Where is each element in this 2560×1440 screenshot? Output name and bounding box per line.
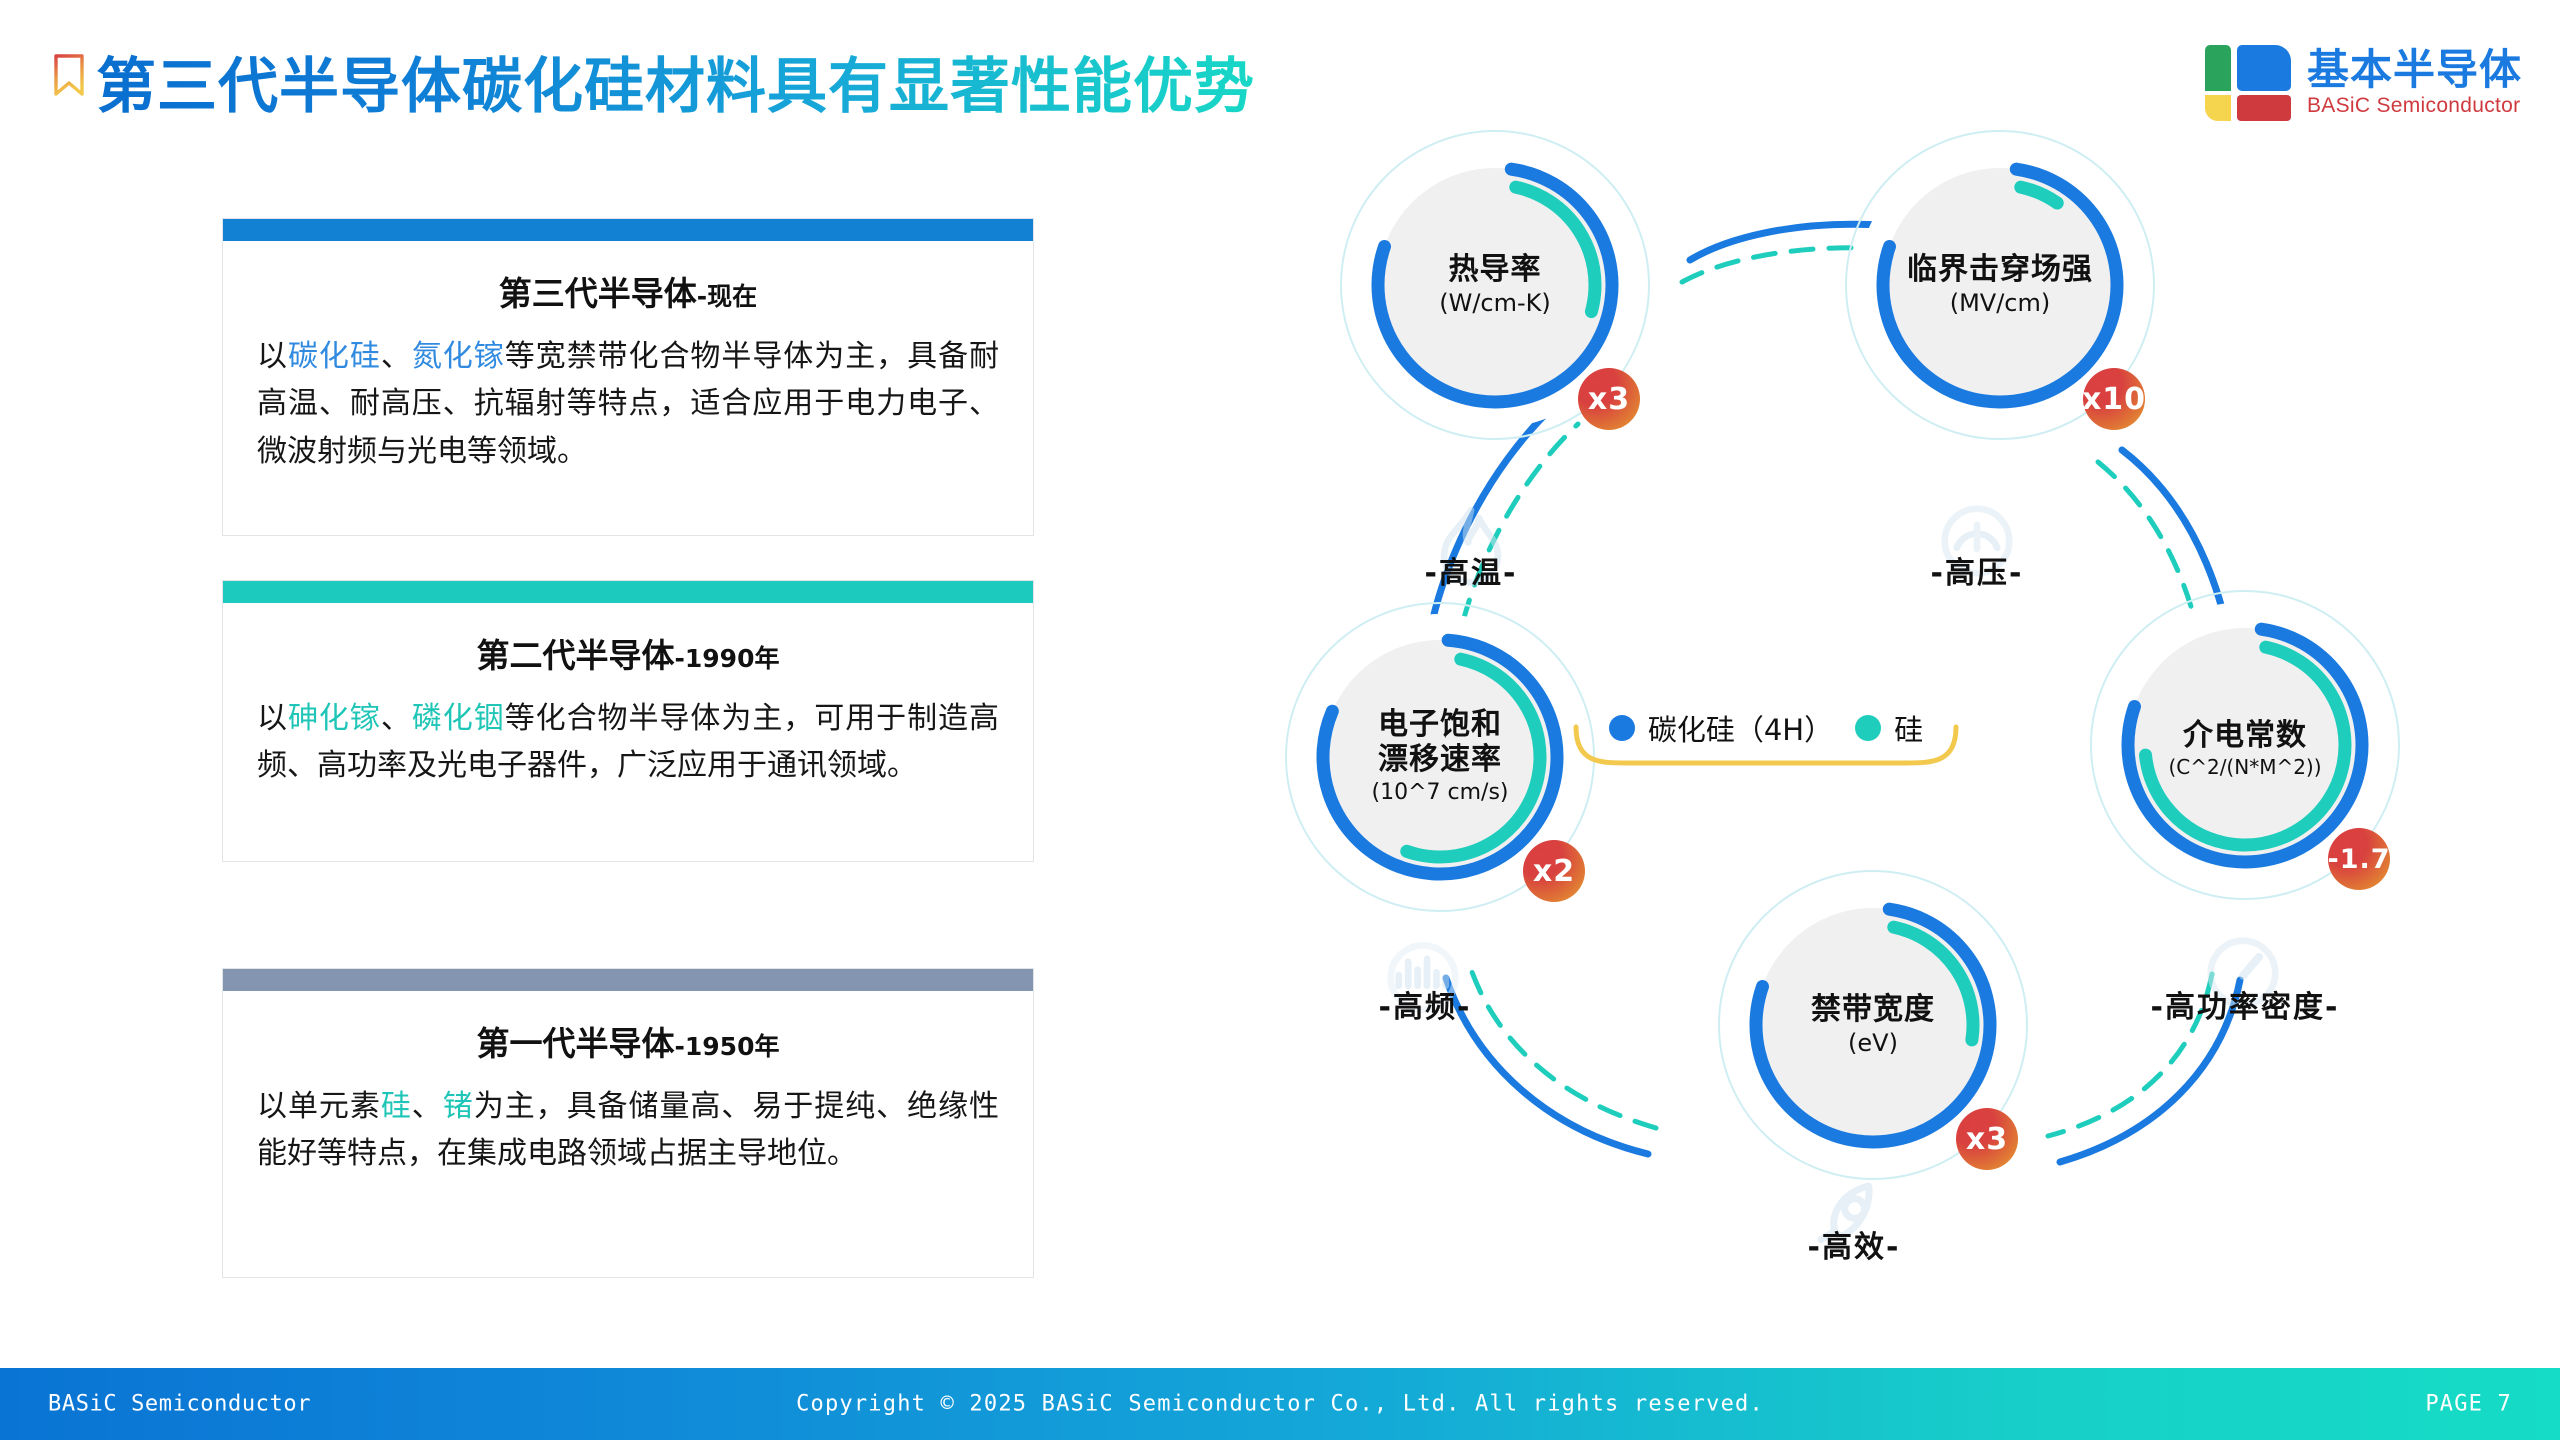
logo-name-en: BASiC Semiconductor — [2307, 94, 2522, 118]
node-unit: (eV) — [1718, 1029, 2028, 1058]
node-unit: (C^2/(N*M^2)) — [2090, 755, 2400, 779]
node-label: 热导率 — [1340, 252, 1650, 287]
node-label: 禁带宽度 — [1718, 992, 2028, 1027]
card-title-sub: -1990年 — [675, 644, 780, 673]
node-badge: -1.7 — [2328, 828, 2390, 890]
node-unit: (W/cm-K) — [1340, 289, 1650, 318]
card-body: 以砷化镓、磷化铟等化合物半导体为主，可用于制造高频、高功率及光电子器件，广泛应用… — [223, 677, 1033, 816]
node-critical-breakdown-field[interactable]: 临界击穿场强 (MV/cm) x10 — [1845, 130, 2155, 440]
card-title: 第二代半导体-1990年 — [223, 629, 1033, 677]
footer-copyright: Copyright © 2025 BASiC Semiconductor Co.… — [796, 1392, 1764, 1417]
logo-square-green — [2205, 45, 2231, 91]
card-gen1: 第一代半导体-1950年 以单元素硅、锗为主，具备储量高、易于提纯、绝缘性能好等… — [222, 968, 1034, 1278]
card-title-sub: -现在 — [697, 282, 757, 311]
node-unit: (MV/cm) — [1845, 289, 2155, 318]
node-text-block: 介电常数 (C^2/(N*M^2)) — [2090, 718, 2400, 779]
node-text-block: 临界击穿场强 (MV/cm) — [1845, 252, 2155, 318]
node-dielectric-constant[interactable]: 介电常数 (C^2/(N*M^2)) -1.7 — [2090, 590, 2400, 900]
logo-square-yellow — [2205, 95, 2231, 121]
node-badge: x2 — [1523, 840, 1585, 902]
card-accent-bar — [223, 969, 1033, 991]
card-body: 以碳化硅、氮化镓等宽禁带化合物半导体为主，具备耐高温、耐高压、抗辐射等特点，适合… — [223, 315, 1033, 501]
card-title: 第三代半导体-现在 — [223, 267, 1033, 315]
legend: 碳化硅（4H） 硅 — [1566, 705, 1966, 775]
node-badge: x3 — [1578, 368, 1640, 430]
card-title-main: 第一代半导体 — [477, 1024, 675, 1063]
legend-underline — [1566, 705, 1966, 775]
node-label-line2: 漂移速率 — [1285, 742, 1595, 777]
logo: 基本半导体 BASiC Semiconductor — [2205, 44, 2522, 122]
node-text-block: 禁带宽度 (eV) — [1718, 992, 2028, 1058]
caption-high-efficiency: -高效- — [1764, 1222, 1944, 1266]
card-title-main: 第二代半导体 — [477, 636, 675, 675]
bookmark-icon — [52, 52, 86, 98]
caption-high-power-density: -高功率密度- — [2110, 982, 2380, 1026]
logo-mark — [2205, 45, 2291, 121]
logo-square-red — [2237, 95, 2291, 121]
node-bandgap-width[interactable]: 禁带宽度 (eV) x3 — [1718, 870, 2028, 1180]
footer-brand: BASiC Semiconductor — [48, 1392, 311, 1417]
caption-high-temperature: -高温- — [1386, 548, 1556, 592]
node-badge: x3 — [1956, 1108, 2018, 1170]
node-label: 临界击穿场强 — [1845, 252, 2155, 287]
node-unit: (10^7 cm/s) — [1285, 780, 1595, 806]
card-title-main: 第三代半导体 — [499, 274, 697, 313]
card-gen2: 第二代半导体-1990年 以砷化镓、磷化铟等化合物半导体为主，可用于制造高频、高… — [222, 580, 1034, 862]
node-electron-saturation-drift-velocity[interactable]: 电子饱和 漂移速率 (10^7 cm/s) x2 — [1285, 602, 1595, 912]
page-title: 第三代半导体碳化硅材料具有显著性能优势 — [96, 38, 1255, 125]
node-text-block: 热导率 (W/cm-K) — [1340, 252, 1650, 318]
node-label-line1: 电子饱和 — [1285, 707, 1595, 742]
performance-gauge-diagram: 热导率 (W/cm-K) x3 -高温- 临界击穿场强 (MV/cm) x10 … — [1300, 150, 2540, 1320]
card-gen3: 第三代半导体-现在 以碳化硅、氮化镓等宽禁带化合物半导体为主，具备耐高温、耐高压… — [222, 218, 1034, 536]
card-title-sub: -1950年 — [675, 1032, 780, 1061]
caption-high-frequency: -高频- — [1340, 982, 1510, 1026]
card-title: 第一代半导体-1950年 — [223, 1017, 1033, 1065]
logo-name-cn: 基本半导体 — [2307, 48, 2522, 92]
caption-high-voltage: -高压- — [1892, 548, 2062, 592]
node-text-block: 电子饱和 漂移速率 (10^7 cm/s) — [1285, 707, 1595, 806]
footer: BASiC Semiconductor Copyright © 2025 BAS… — [0, 1368, 2560, 1440]
logo-square-blue — [2237, 45, 2291, 91]
node-label: 介电常数 — [2090, 718, 2400, 753]
node-badge: x10 — [2083, 368, 2145, 430]
node-thermal-conductivity[interactable]: 热导率 (W/cm-K) x3 — [1340, 130, 1650, 440]
card-body: 以单元素硅、锗为主，具备储量高、易于提纯、绝缘性能好等特点，在集成电路领域占据主… — [223, 1065, 1033, 1204]
card-accent-bar — [223, 581, 1033, 603]
title-bar: 第三代半导体碳化硅材料具有显著性能优势 — [0, 0, 2560, 160]
card-accent-bar — [223, 219, 1033, 241]
footer-page-number: PAGE 7 — [2425, 1392, 2512, 1417]
